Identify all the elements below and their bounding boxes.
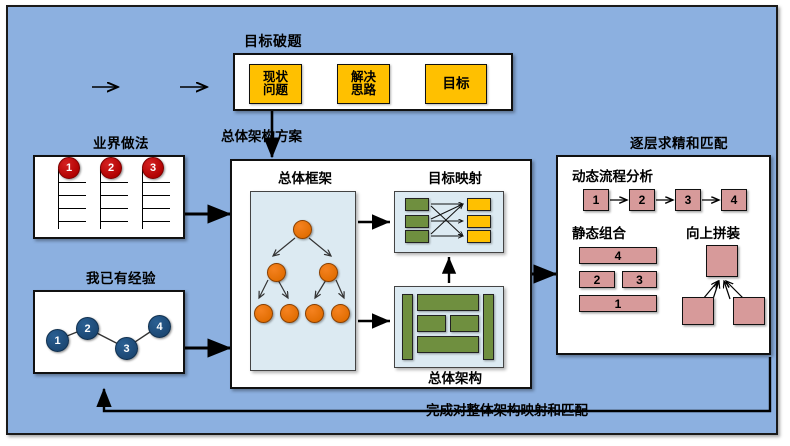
column-line-2-1 <box>100 182 128 183</box>
slide-background: 目标破题 现状 问题 解决 思路 目标 总体架构方案 业界做法 <box>6 5 778 435</box>
feedback-label: 完成对整体架构映射和匹配 <box>426 399 588 419</box>
right-section-title: 逐层求精和匹配 <box>604 132 754 152</box>
tree-node-root <box>293 220 312 239</box>
column-line-1-2 <box>58 195 86 196</box>
column-line-2-4 <box>100 221 128 222</box>
experience-node-2: 2 <box>76 317 99 340</box>
industry-badge-3: 3 <box>142 157 164 179</box>
assembly-bottom-node-1 <box>682 297 714 325</box>
right-card: 动态流程分析 1 2 3 4 <box>556 155 771 355</box>
column-line-1-4 <box>58 221 86 222</box>
tree-node-l3-2 <box>280 304 299 323</box>
experience-card: 1 2 3 4 <box>33 290 185 374</box>
column-line-1-1 <box>58 182 86 183</box>
static-row-3: 3 <box>622 271 657 288</box>
industry-badge-2: 2 <box>100 157 122 179</box>
column-line-2-3 <box>100 208 128 209</box>
top-flow-card: 现状 问题 解决 思路 目标 <box>233 53 513 111</box>
static-row-4: 4 <box>579 247 657 264</box>
tree-node-l2-1 <box>267 263 286 282</box>
top-flow-box-3-line1: 目标 <box>443 77 470 92</box>
upward-assembly-title: 向上拼装 <box>686 222 766 242</box>
column-line-3-2 <box>142 195 170 196</box>
column-line-3-3 <box>142 208 170 209</box>
industry-badge-1: 1 <box>58 157 80 179</box>
top-flow-box-1: 现状 问题 <box>249 64 302 104</box>
diagram-canvas: 目标破题 现状 问题 解决 思路 目标 总体架构方案 业界做法 <box>0 0 790 446</box>
column-line-1-3 <box>58 208 86 209</box>
column-line-3-4 <box>142 221 170 222</box>
tree-node-l3-1 <box>254 304 273 323</box>
column-line-3-1 <box>142 182 170 183</box>
column-stem-2 <box>100 169 101 229</box>
down-arrow-label: 总体架构方案 <box>221 125 302 145</box>
top-flow-box-1-line2: 问题 <box>263 84 288 98</box>
top-flow-box-2: 解决 思路 <box>337 64 390 104</box>
assembly-bottom-node-2 <box>733 297 765 325</box>
industry-practice-title: 业界做法 <box>76 132 166 152</box>
static-row-2: 2 <box>579 271 615 288</box>
experience-title: 我已有经验 <box>66 267 176 287</box>
experience-node-4: 4 <box>148 315 171 338</box>
column-stem-3 <box>142 169 143 229</box>
assembly-top-node <box>706 245 738 277</box>
top-flow-box-2-line2: 思路 <box>351 84 376 98</box>
tree-node-l2-2 <box>319 263 338 282</box>
top-flow-box-2-line1: 解决 <box>351 71 376 85</box>
static-composition-title: 静态组合 <box>572 222 662 242</box>
middle-card: 总体框架 目标映射 总体架构 <box>230 159 532 389</box>
column-line-2-2 <box>100 195 128 196</box>
static-row-1: 1 <box>579 295 657 312</box>
top-section-title: 目标破题 <box>233 31 313 51</box>
column-stem-1 <box>58 169 59 229</box>
tree-node-l3-4 <box>331 304 350 323</box>
top-flow-box-1-line1: 现状 <box>263 71 288 85</box>
top-flow-box-3: 目标 <box>425 64 487 104</box>
tree-node-l3-3 <box>305 304 324 323</box>
experience-node-1: 1 <box>46 329 69 352</box>
experience-node-3: 3 <box>115 337 138 360</box>
